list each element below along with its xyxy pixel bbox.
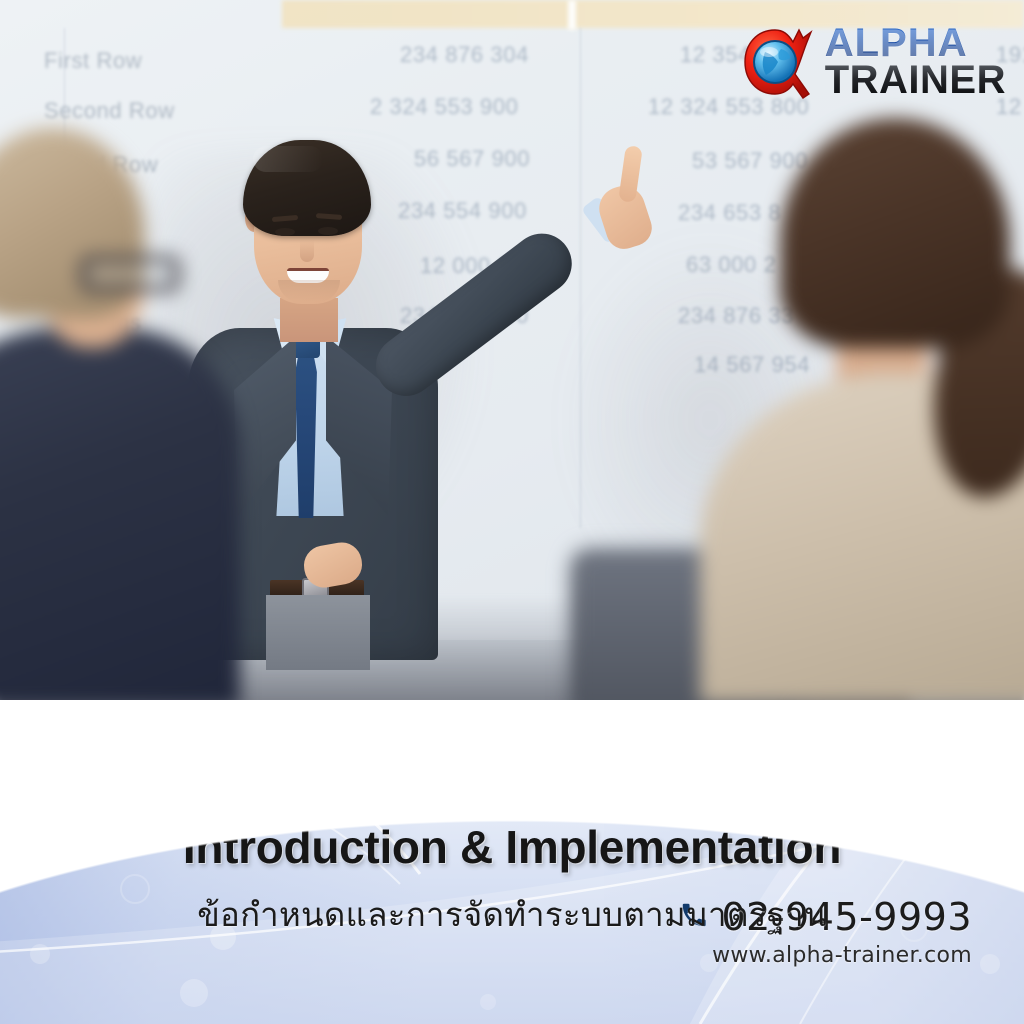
photo-area: First Row Second Row nd Row ogs TAL 234 … [0, 0, 1024, 700]
foreground-person-left [0, 128, 240, 688]
slide-column-gap [568, 0, 576, 30]
presenter-eye [275, 228, 295, 236]
presenter-raised-arm [364, 222, 584, 408]
foreground-person-right [740, 118, 1024, 688]
slide-row-label: Second Row [44, 98, 175, 124]
brand-name-alpha: ALPHA [825, 25, 1006, 62]
presenter-nose [300, 240, 314, 262]
brand-name-trainer: TRAINER [825, 62, 1006, 99]
presenter-hair [243, 140, 371, 236]
alpha-globe-icon [737, 22, 821, 102]
brand-wordmark: ALPHA TRAINER [825, 25, 1006, 99]
panel-content: หลักสูตร ISO14001:2015 Introduction & Im… [0, 624, 1024, 1024]
info-panel: หลักสูตร ISO14001:2015 Introduction & Im… [0, 624, 1024, 1024]
course-subtitle-thai: ข้อกำหนดและการจัดทำระบบตามมาตรฐาน [197, 888, 827, 941]
slide-value: 234 876 304 [400, 42, 529, 68]
presenter-eye [318, 227, 338, 235]
brand-logo[interactable]: ALPHA TRAINER [737, 22, 1006, 102]
course-standard: ISO14001:2015 [303, 741, 720, 810]
slide-row-label: First Row [44, 48, 142, 74]
course-subtitle-en: Introduction & Implementation [183, 820, 841, 874]
glasses-icon [80, 256, 180, 292]
foreground-right-hair [780, 118, 1010, 348]
presenter-neck [280, 298, 338, 342]
slide-value: 2 324 553 900 [370, 94, 519, 120]
course-label-thai: หลักสูตร [443, 672, 582, 731]
promo-poster: First Row Second Row nd Row ogs TAL 234 … [0, 0, 1024, 1024]
